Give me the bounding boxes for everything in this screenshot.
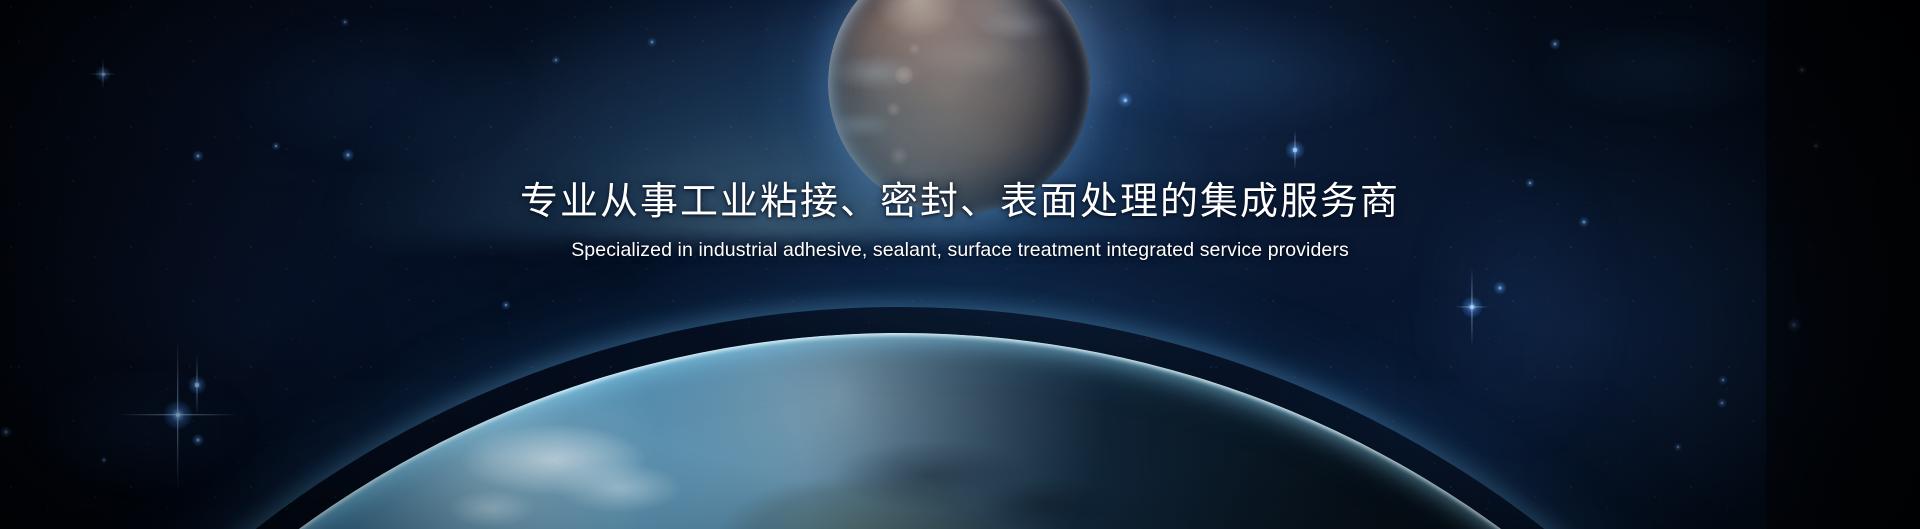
star-glow-icon [192, 150, 204, 162]
star-right-far-icon [1801, 69, 1803, 71]
star-glow-icon [271, 141, 280, 150]
star-right-upper-icon [1499, 287, 1502, 290]
star-right-edge-icon [1554, 43, 1556, 45]
banner-headline-chinese: 专业从事工业粘接、密封、表面处理的集成服务商 [0, 178, 1920, 226]
banner-caption: 专业从事工业粘接、密封、表面处理的集成服务商 Specialized in in… [0, 178, 1920, 262]
star-glow-icon [1811, 141, 1820, 150]
earth-atmosphere-glow-icon [0, 307, 1920, 529]
star-left-mid-icon [197, 155, 199, 157]
star-glow-icon [501, 300, 511, 310]
star-above-earth-icon [505, 304, 507, 306]
star-glow-icon [95, 66, 111, 82]
star-right-bright-icon [1470, 305, 1474, 309]
star-ray-vertical-icon [1294, 130, 1295, 170]
star-ray-horizontal-icon [1455, 306, 1489, 307]
star-glow-icon [1786, 317, 1801, 332]
star-glow-icon [1285, 140, 1305, 160]
star-glow-icon [1493, 281, 1507, 295]
earth-icon [0, 333, 1920, 529]
star-glow-icon [1461, 296, 1483, 318]
star-upper-center-left-icon [275, 145, 277, 147]
star-glow-icon [1797, 65, 1807, 75]
star-nebula-right-2-icon [1293, 148, 1296, 151]
hero-banner: 专业从事工业粘接、密封、表面处理的集成服务商 Specialized in in… [0, 0, 1920, 529]
star-left-top-icon [102, 73, 105, 76]
star-right-far-3-icon [1793, 324, 1796, 327]
star-ray-horizontal-icon [90, 74, 116, 75]
star-glow-icon [1549, 38, 1561, 50]
banner-subheadline-english: Specialized in industrial adhesive, seal… [0, 238, 1920, 262]
star-right-far-2-icon [1815, 145, 1817, 147]
star-ray-vertical-icon [103, 59, 104, 89]
